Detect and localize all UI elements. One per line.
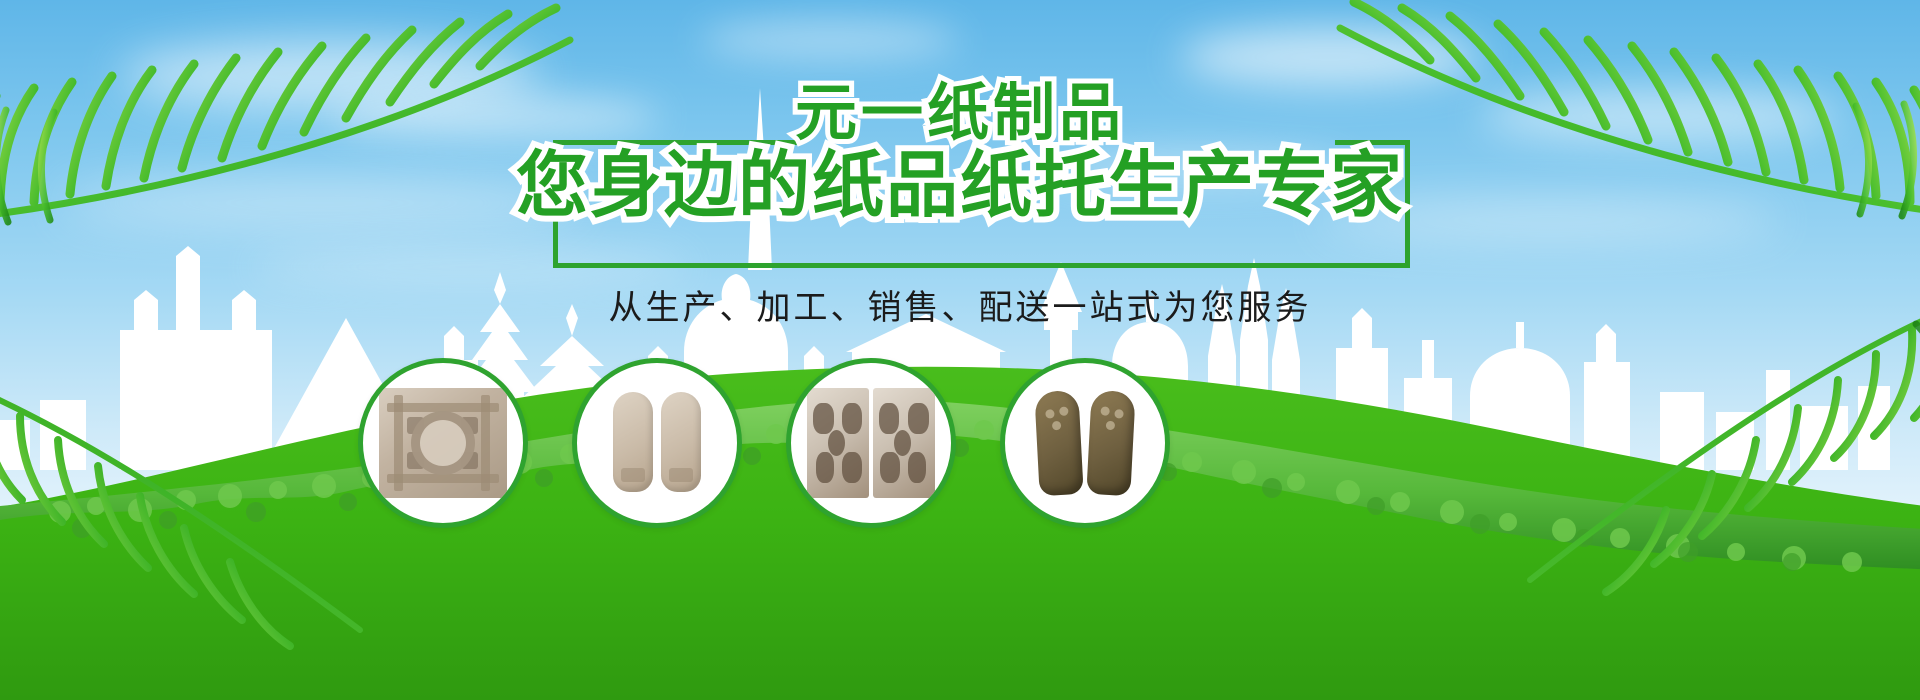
shoe-right [1086,390,1135,496]
paper-pulp-twin-tray-image [807,388,935,498]
hero-banner: 元一纸制品 您身边的纸品纸托生产专家 从生产、加工、销售、配送一站式为您服务 [0,0,1920,700]
paper-pulp-insole-pair-image [593,388,721,498]
paper-pulp-dark-shoe-pair-image [1021,388,1149,498]
shoe-left [1034,390,1083,496]
tray-shape [379,388,507,498]
twin-tray-shape [807,388,935,498]
product-circle-2[interactable] [572,358,742,528]
product-circle-1[interactable] [358,358,528,528]
product-thumbnail-row [0,0,1920,700]
product-circle-3[interactable] [786,358,956,528]
product-circle-4[interactable] [1000,358,1170,528]
insole-left [613,392,653,492]
insole-right [661,392,701,492]
paper-pulp-square-tray-image [379,388,507,498]
